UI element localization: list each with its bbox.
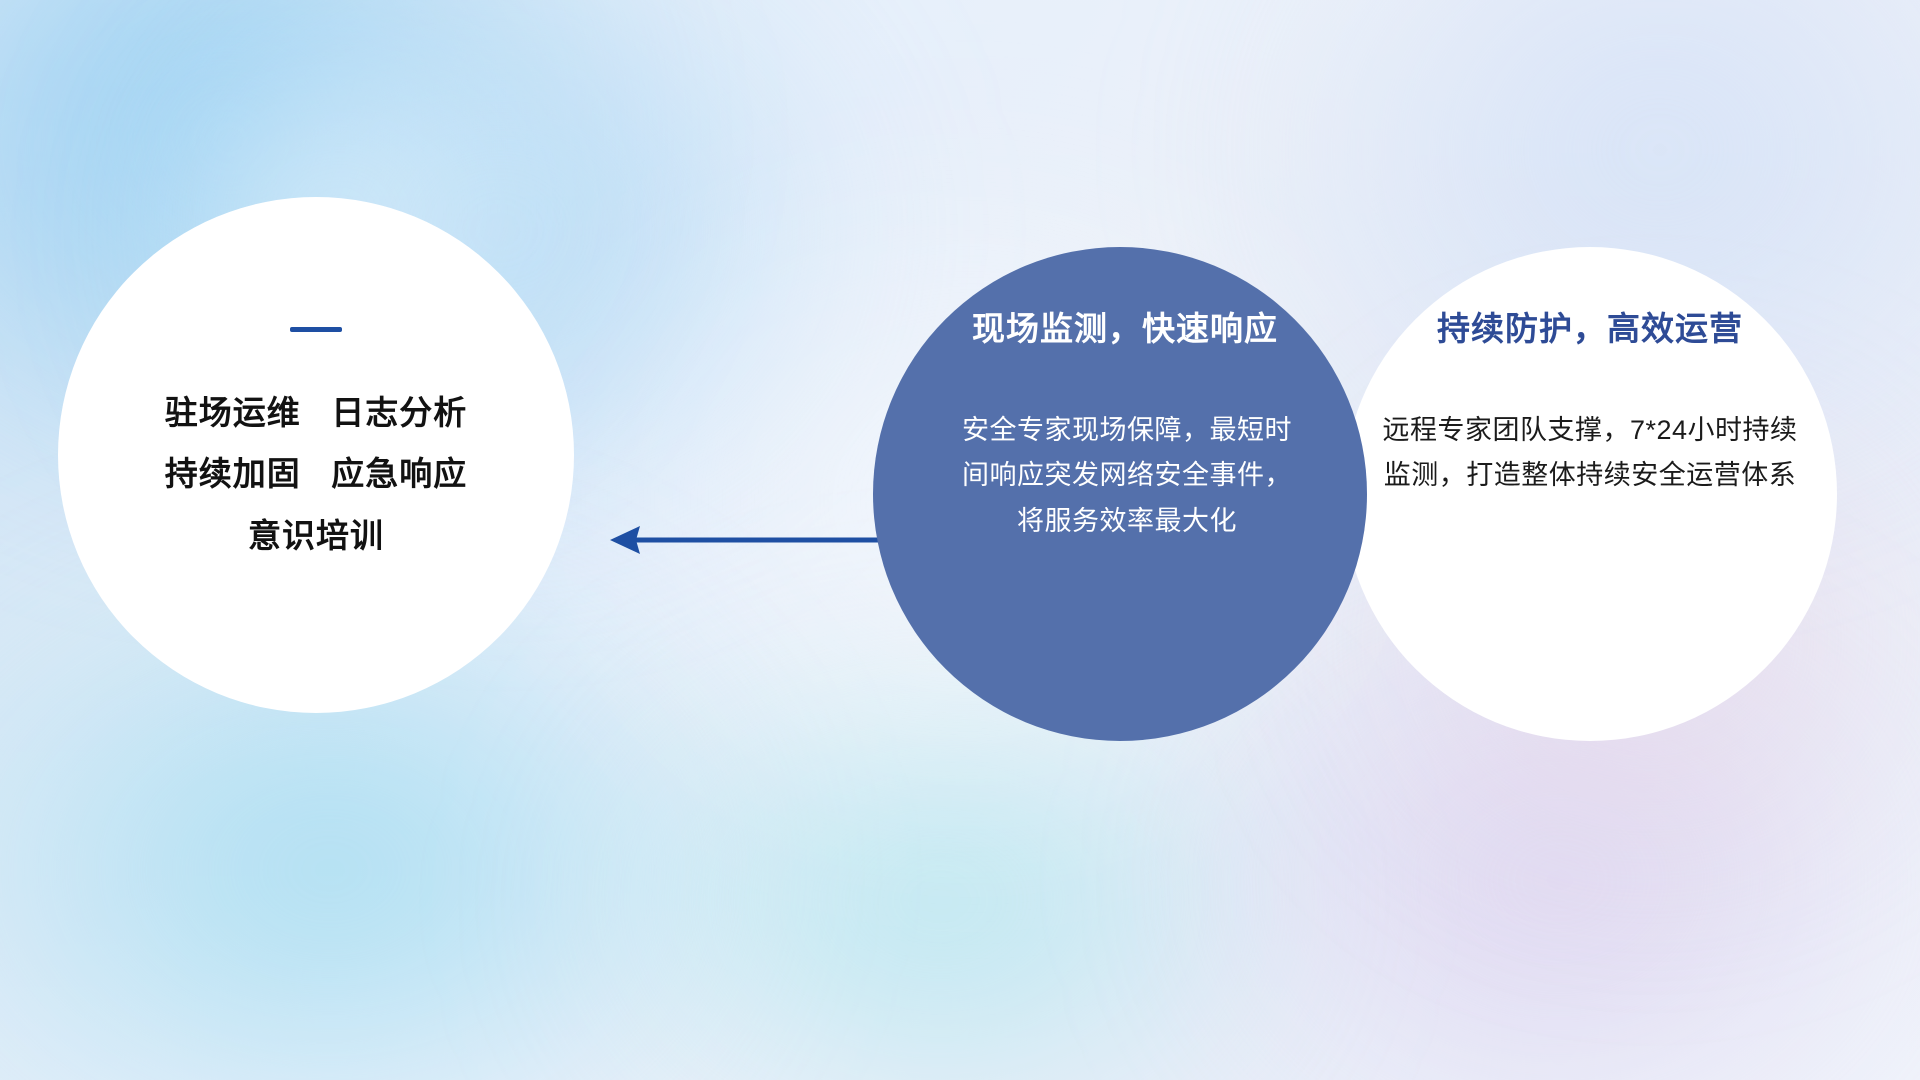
service-capabilities-list: 驻场运维 日志分析 持续加固 应急响应 意识培训 [165, 382, 468, 566]
service-capabilities-circle[interactable]: 驻场运维 日志分析 持续加固 应急响应 意识培训 [58, 197, 574, 713]
slide-canvas: 驻场运维 日志分析 持续加固 应急响应 意识培训 持续防护，高效运营 远程专家团… [0, 0, 1920, 1080]
continuous-protection-circle[interactable]: 持续防护，高效运营 远程专家团队支撑，7*24小时持续监测，打造整体持续安全运营… [1343, 247, 1837, 741]
onsite-monitoring-circle[interactable]: 现场监测，快速响应 安全专家现场保障，最短时间响应突发网络安全事件，将服务效率最… [873, 247, 1367, 741]
list-item: 意识培训 [165, 505, 468, 566]
onsite-monitoring-body: 安全专家现场保障，最短时间响应突发网络安全事件，将服务效率最大化 [948, 408, 1292, 544]
continuous-protection-body: 远程专家团队支撑，7*24小时持续监测，打造整体持续安全运营体系 [1380, 408, 1800, 499]
flow-arrow-left-icon [606, 520, 882, 560]
divider-dash [290, 327, 342, 332]
list-item: 持续加固 应急响应 [165, 443, 468, 504]
list-item: 驻场运维 日志分析 [165, 382, 468, 443]
onsite-monitoring-title: 现场监测，快速响应 [962, 302, 1278, 350]
continuous-protection-title: 持续防护，高效运营 [1437, 302, 1743, 350]
